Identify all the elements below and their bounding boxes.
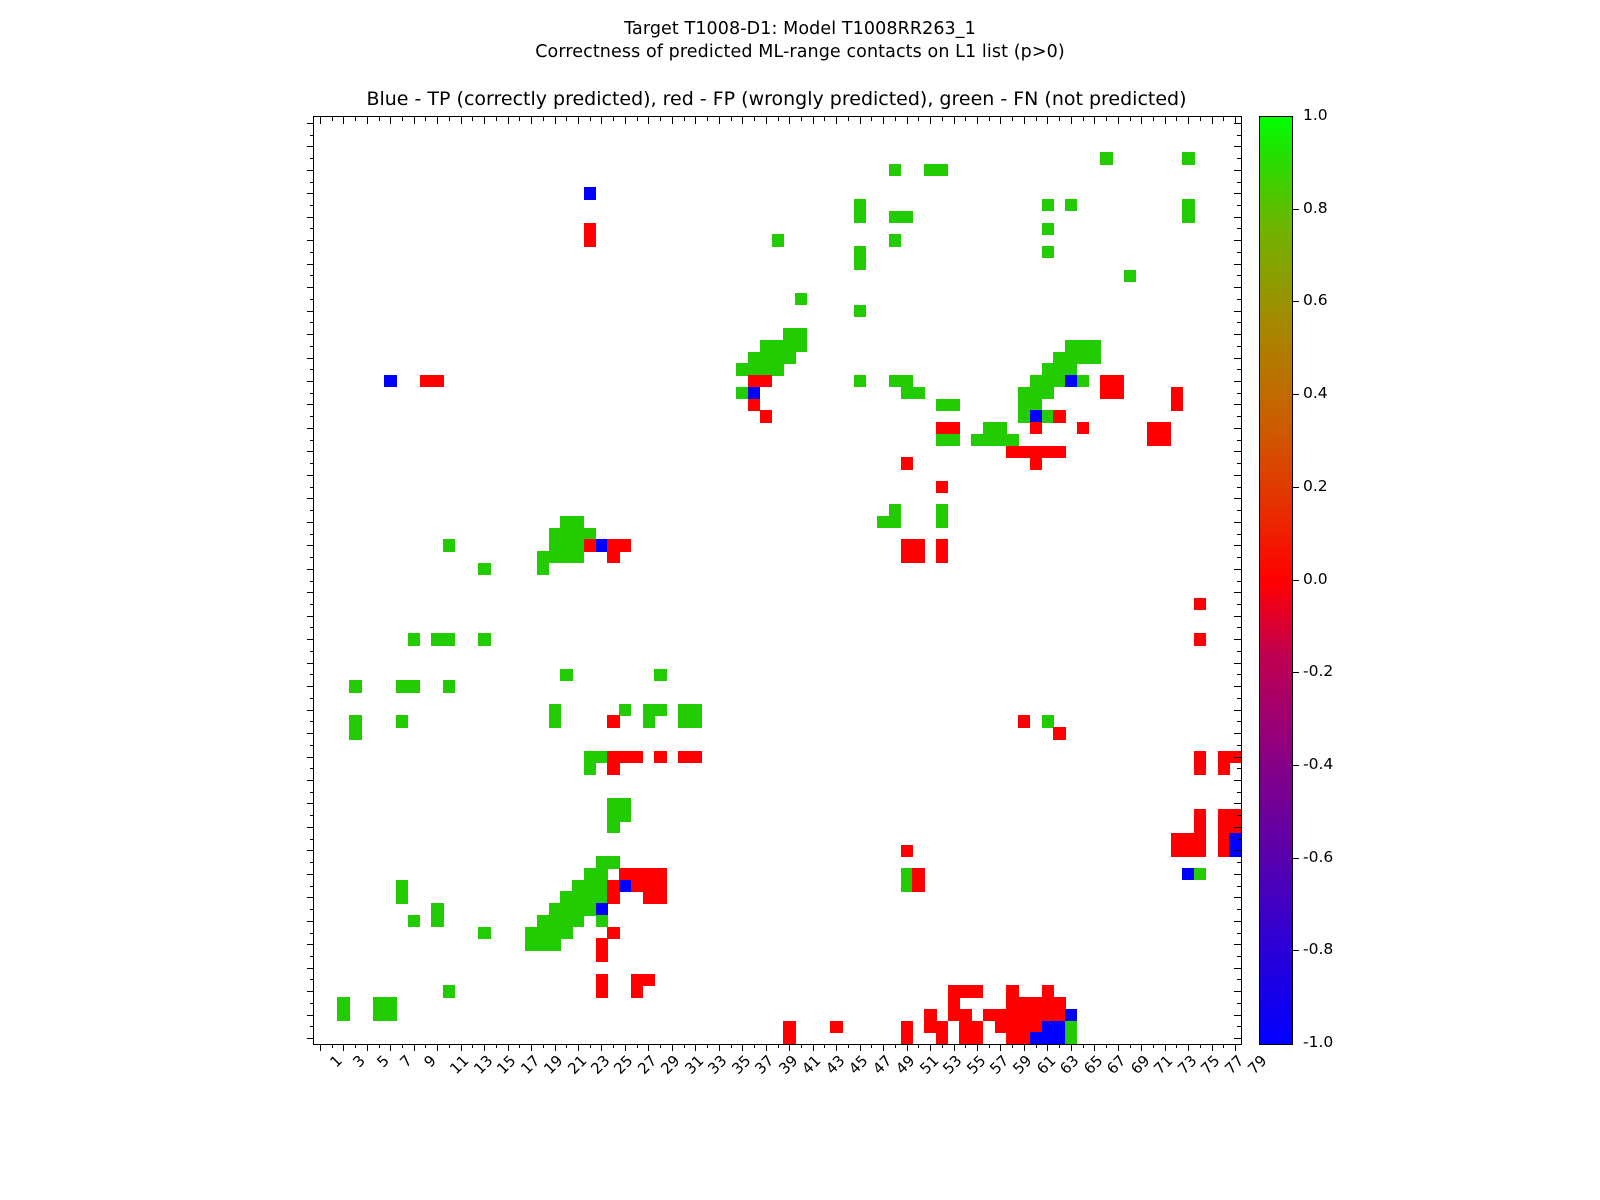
contact-cell xyxy=(572,903,584,915)
colorbar-tick-label: -0.4 xyxy=(1303,757,1333,772)
y-tick-mark xyxy=(307,991,314,992)
x-tick-label: 67 xyxy=(1105,1053,1129,1077)
contact-cell xyxy=(596,974,608,986)
contact-map-plot[interactable] xyxy=(313,116,1242,1045)
contact-cell xyxy=(1218,809,1230,821)
y-tick-mark-inner xyxy=(1234,991,1241,992)
contact-cell xyxy=(1053,727,1065,739)
contact-cell xyxy=(572,915,584,927)
contact-cell xyxy=(783,328,795,340)
contact-cell xyxy=(877,516,889,528)
x-tick-mark xyxy=(414,1044,415,1051)
y-tick-mark xyxy=(310,886,314,887)
colorbar-tick-mark xyxy=(1293,765,1299,766)
contact-cell xyxy=(373,997,385,1009)
contact-cell xyxy=(607,539,619,551)
contact-cell xyxy=(854,258,866,270)
contact-cell xyxy=(607,551,619,563)
contact-cell xyxy=(549,704,561,716)
x-tick-mark xyxy=(1071,1044,1072,1051)
contact-cell xyxy=(901,375,913,387)
contact-cell xyxy=(1030,375,1042,387)
y-tick-mark-inner xyxy=(1234,569,1241,570)
x-tick-mark-inner xyxy=(942,117,943,121)
x-tick-mark xyxy=(637,1044,638,1048)
y-tick-mark xyxy=(307,569,314,570)
y-tick-mark-inner xyxy=(1237,322,1241,323)
contact-cell xyxy=(1018,410,1030,422)
x-tick-mark-inner xyxy=(437,117,438,124)
colorbar-gradient xyxy=(1259,116,1293,1045)
x-tick-mark-inner xyxy=(860,117,861,124)
x-tick-mark xyxy=(836,1044,837,1051)
contact-cell xyxy=(1053,446,1065,458)
contact-cell xyxy=(901,868,913,880)
x-tick-mark-inner xyxy=(531,117,532,124)
contact-cell xyxy=(1042,985,1054,997)
x-tick-mark xyxy=(1036,1044,1037,1048)
contact-cell xyxy=(549,715,561,727)
contact-cell xyxy=(1194,598,1206,610)
y-tick-mark-inner xyxy=(1234,287,1241,288)
x-tick-mark-inner xyxy=(695,117,696,124)
contact-cell xyxy=(760,340,772,352)
y-tick-mark-inner xyxy=(1237,487,1241,488)
contact-cell xyxy=(971,1021,983,1033)
y-tick-mark xyxy=(310,205,314,206)
x-tick-mark-inner xyxy=(601,117,602,124)
contact-cell xyxy=(1006,446,1018,458)
y-tick-mark-inner xyxy=(1234,827,1241,828)
y-tick-mark xyxy=(307,827,314,828)
contact-cell xyxy=(1042,1021,1054,1033)
contact-cell xyxy=(1065,199,1077,211)
y-tick-mark xyxy=(307,264,314,265)
chart-title-line-1: Target T1008-D1: Model T1008RR263_1 xyxy=(0,18,1600,41)
x-tick-mark-inner xyxy=(1047,117,1048,124)
contact-cell xyxy=(936,422,948,434)
contact-cell xyxy=(783,352,795,364)
y-tick-mark xyxy=(307,522,314,523)
x-tick-mark xyxy=(860,1044,861,1051)
contact-cell xyxy=(607,751,619,763)
contact-cell xyxy=(1088,352,1100,364)
y-tick-mark-inner xyxy=(1234,592,1241,593)
contact-cell xyxy=(936,551,948,563)
contact-cell xyxy=(584,223,596,235)
contact-cell xyxy=(889,504,901,516)
y-tick-mark xyxy=(310,369,314,370)
contact-cell xyxy=(619,539,631,551)
y-tick-mark xyxy=(307,663,314,664)
y-tick-mark-inner xyxy=(1237,862,1241,863)
contact-cell xyxy=(537,563,549,575)
contact-cell xyxy=(901,845,913,857)
y-tick-mark xyxy=(310,557,314,558)
contact-cell xyxy=(1042,1009,1054,1021)
contact-cell xyxy=(396,891,408,903)
contact-cell xyxy=(643,704,655,716)
contact-cell xyxy=(1194,821,1206,833)
x-tick-mark-inner xyxy=(367,117,368,124)
x-tick-mark xyxy=(754,1044,755,1048)
y-tick-mark xyxy=(310,534,314,535)
y-tick-mark-inner xyxy=(1234,874,1241,875)
y-tick-mark-inner xyxy=(1234,240,1241,241)
x-tick-label: 57 xyxy=(988,1053,1012,1077)
x-tick-mark xyxy=(930,1044,931,1051)
contact-cell xyxy=(936,164,948,176)
x-tick-mark-inner xyxy=(625,117,626,124)
contact-cell xyxy=(1194,751,1206,763)
contact-cell xyxy=(549,551,561,563)
y-tick-mark-inner xyxy=(1237,557,1241,558)
x-tick-label: 55 xyxy=(964,1053,988,1077)
y-tick-mark xyxy=(307,686,314,687)
contact-cell xyxy=(1030,1009,1042,1021)
contact-cell xyxy=(1077,340,1089,352)
contact-cell xyxy=(631,751,643,763)
contact-cell xyxy=(572,539,584,551)
y-tick-mark xyxy=(310,1026,314,1027)
y-tick-mark-inner xyxy=(1237,721,1241,722)
x-tick-mark-inner xyxy=(590,117,591,121)
contact-cell xyxy=(584,751,596,763)
contact-cell xyxy=(1100,152,1112,164)
contact-cell xyxy=(549,915,561,927)
contact-cell xyxy=(1077,422,1089,434)
x-tick-label: 35 xyxy=(729,1053,753,1077)
y-tick-mark-inner xyxy=(1237,604,1241,605)
y-tick-mark-inner xyxy=(1237,1026,1241,1027)
x-tick-label: 33 xyxy=(706,1053,730,1077)
x-tick-mark xyxy=(578,1044,579,1051)
x-tick-mark xyxy=(918,1044,919,1048)
contact-cell xyxy=(936,481,948,493)
contact-cell xyxy=(549,927,561,939)
x-tick-mark-inner xyxy=(965,117,966,121)
x-tick-mark-inner xyxy=(555,117,556,124)
x-tick-mark-inner xyxy=(1141,117,1142,124)
x-tick-mark-inner xyxy=(472,117,473,121)
y-tick-mark-inner xyxy=(1237,909,1241,910)
x-tick-mark xyxy=(1176,1044,1177,1048)
contact-cell xyxy=(1042,446,1054,458)
x-tick-label: 51 xyxy=(917,1053,941,1077)
x-tick-mark xyxy=(895,1044,896,1048)
contact-cell xyxy=(772,234,784,246)
x-tick-label: 17 xyxy=(518,1053,542,1077)
contact-cell xyxy=(584,528,596,540)
x-tick-mark xyxy=(402,1044,403,1048)
contact-cell xyxy=(560,903,572,915)
y-tick-mark-inner xyxy=(1234,639,1241,640)
x-tick-label: 7 xyxy=(398,1053,415,1070)
contact-cell xyxy=(1030,457,1042,469)
contact-cell xyxy=(936,1032,948,1044)
contact-cell xyxy=(537,938,549,950)
contact-cell xyxy=(1030,997,1042,1009)
y-tick-mark-inner xyxy=(1234,475,1241,476)
x-tick-mark xyxy=(566,1044,567,1048)
y-tick-mark xyxy=(307,592,314,593)
contact-cell xyxy=(889,375,901,387)
x-tick-mark-inner xyxy=(719,117,720,124)
x-tick-mark xyxy=(1165,1044,1166,1051)
contact-cell xyxy=(1077,352,1089,364)
y-tick-mark-inner xyxy=(1237,745,1241,746)
x-tick-mark-inner xyxy=(390,117,391,124)
contact-cell xyxy=(678,704,690,716)
contact-cell xyxy=(619,798,631,810)
contact-cell xyxy=(889,516,901,528)
y-tick-mark xyxy=(310,510,314,511)
y-tick-mark xyxy=(307,146,314,147)
x-tick-mark-inner xyxy=(848,117,849,121)
y-tick-mark-inner xyxy=(1234,545,1241,546)
contact-cell xyxy=(1194,833,1206,845)
contact-cell xyxy=(443,539,455,551)
x-tick-mark xyxy=(519,1044,520,1048)
contact-cell xyxy=(1182,211,1194,223)
contact-cell xyxy=(760,363,772,375)
contact-cell xyxy=(889,234,901,246)
contact-cell xyxy=(431,633,443,645)
contact-cell xyxy=(654,751,666,763)
x-tick-mark-inner xyxy=(883,117,884,124)
x-tick-mark-inner xyxy=(484,117,485,124)
y-tick-mark xyxy=(307,311,314,312)
contact-cell xyxy=(396,715,408,727)
contact-cell xyxy=(748,375,760,387)
y-tick-mark-inner xyxy=(1234,944,1241,945)
contact-cell xyxy=(901,551,913,563)
x-tick-mark xyxy=(425,1044,426,1048)
x-tick-mark-inner xyxy=(1118,117,1119,124)
x-tick-mark xyxy=(484,1044,485,1051)
y-tick-mark-inner xyxy=(1234,780,1241,781)
contact-cell xyxy=(443,680,455,692)
contact-cell xyxy=(1018,399,1030,411)
x-tick-label: 77 xyxy=(1222,1053,1246,1077)
y-tick-mark-inner xyxy=(1234,522,1241,523)
contact-cell xyxy=(584,868,596,880)
contact-cell xyxy=(596,985,608,997)
y-tick-mark xyxy=(310,909,314,910)
x-tick-mark xyxy=(719,1044,720,1051)
x-tick-mark xyxy=(531,1044,532,1051)
x-tick-mark xyxy=(1012,1044,1013,1048)
contact-cell xyxy=(795,328,807,340)
colorbar-tick-mark xyxy=(1293,301,1299,302)
y-tick-mark-inner xyxy=(1234,686,1241,687)
contact-cell xyxy=(948,997,960,1009)
contact-cell xyxy=(584,891,596,903)
contact-cell xyxy=(783,1021,795,1033)
contact-cell xyxy=(572,891,584,903)
contact-cell xyxy=(596,891,608,903)
contact-cell xyxy=(572,528,584,540)
x-tick-mark-inner xyxy=(566,117,567,121)
contact-cell xyxy=(1006,985,1018,997)
contact-cell xyxy=(596,751,608,763)
contact-cell xyxy=(607,856,619,868)
x-tick-mark-inner xyxy=(895,117,896,121)
y-tick-mark xyxy=(310,698,314,699)
contact-cell xyxy=(643,868,655,880)
contact-cell xyxy=(678,751,690,763)
contact-cell xyxy=(619,704,631,716)
y-tick-mark-inner xyxy=(1237,275,1241,276)
x-tick-mark xyxy=(543,1044,544,1048)
x-tick-mark-inner xyxy=(801,117,802,121)
y-tick-mark-inner xyxy=(1234,193,1241,194)
contact-cell xyxy=(596,915,608,927)
contact-cell xyxy=(959,1021,971,1033)
contact-cell xyxy=(854,199,866,211)
y-tick-mark-inner xyxy=(1234,921,1241,922)
y-tick-mark xyxy=(310,768,314,769)
contact-cell xyxy=(1018,387,1030,399)
y-tick-mark xyxy=(310,182,314,183)
contact-cell xyxy=(420,375,432,387)
contact-cell xyxy=(560,669,572,681)
contact-cell xyxy=(1065,375,1077,387)
x-tick-label: 47 xyxy=(870,1053,894,1077)
x-tick-mark xyxy=(1130,1044,1131,1048)
contact-cell xyxy=(936,539,948,551)
y-tick-mark xyxy=(310,135,314,136)
contact-cell xyxy=(1030,1021,1042,1033)
contact-cell xyxy=(830,1021,842,1033)
contact-cell xyxy=(384,1009,396,1021)
contact-cell xyxy=(525,927,537,939)
x-tick-mark xyxy=(707,1044,708,1048)
contact-cell xyxy=(772,352,784,364)
y-tick-mark-inner xyxy=(1234,358,1241,359)
y-tick-mark xyxy=(310,393,314,394)
y-tick-mark xyxy=(310,440,314,441)
contact-cell xyxy=(783,340,795,352)
contact-cell xyxy=(1112,375,1124,387)
x-tick-mark-inner xyxy=(519,117,520,121)
y-tick-mark-inner xyxy=(1234,897,1241,898)
x-tick-mark xyxy=(1235,1044,1236,1051)
x-tick-mark xyxy=(813,1044,814,1051)
x-tick-mark-inner xyxy=(1223,117,1224,121)
contact-cell xyxy=(1042,997,1054,1009)
x-tick-mark-inner xyxy=(425,117,426,121)
x-tick-mark xyxy=(766,1044,767,1051)
y-tick-mark-inner xyxy=(1237,979,1241,980)
x-tick-mark-inner xyxy=(1059,117,1060,121)
contact-cell xyxy=(631,974,643,986)
colorbar-tick-label: 0.8 xyxy=(1303,201,1328,216)
contact-cell xyxy=(337,997,349,1009)
x-tick-mark xyxy=(1223,1044,1224,1048)
contact-cell xyxy=(995,1009,1007,1021)
contact-cell xyxy=(349,715,361,727)
contact-cell xyxy=(1053,363,1065,375)
contact-cell xyxy=(854,305,866,317)
contact-cell xyxy=(748,363,760,375)
contact-cell xyxy=(478,927,490,939)
y-tick-mark xyxy=(310,627,314,628)
contact-cell xyxy=(924,164,936,176)
x-tick-mark-inner xyxy=(508,117,509,124)
y-tick-mark xyxy=(310,322,314,323)
x-tick-label: 73 xyxy=(1175,1053,1199,1077)
contact-cell xyxy=(1171,845,1183,857)
contact-cell xyxy=(1077,375,1089,387)
y-tick-mark-inner xyxy=(1234,170,1241,171)
contact-cell xyxy=(560,539,572,551)
contact-cell xyxy=(549,528,561,540)
y-tick-mark xyxy=(310,252,314,253)
contact-cell xyxy=(1147,434,1159,446)
x-tick-label: 31 xyxy=(682,1053,706,1077)
y-tick-mark xyxy=(310,299,314,300)
y-tick-mark-inner xyxy=(1237,698,1241,699)
contact-cell xyxy=(1088,340,1100,352)
contact-cell xyxy=(959,1032,971,1044)
contact-cell xyxy=(607,927,619,939)
x-tick-mark-inner xyxy=(1012,117,1013,121)
contact-cell xyxy=(549,938,561,950)
contact-cell xyxy=(1112,387,1124,399)
contact-cell xyxy=(1006,1032,1018,1044)
x-tick-label: 71 xyxy=(1152,1053,1176,1077)
contact-cell xyxy=(936,399,948,411)
contact-cell xyxy=(373,1009,385,1021)
x-tick-mark xyxy=(320,1044,321,1051)
y-tick-mark xyxy=(307,710,314,711)
contact-cell xyxy=(1030,399,1042,411)
contact-cell xyxy=(596,539,608,551)
contact-cell xyxy=(349,680,361,692)
y-tick-mark-inner xyxy=(1237,534,1241,535)
x-tick-mark-inner xyxy=(496,117,497,121)
contact-cell xyxy=(607,891,619,903)
x-tick-mark-inner xyxy=(355,117,356,121)
contact-cell xyxy=(1053,375,1065,387)
contact-cell xyxy=(619,880,631,892)
contact-cell xyxy=(1053,1009,1065,1021)
contact-cell xyxy=(560,915,572,927)
contact-cell xyxy=(936,1021,948,1033)
x-tick-mark xyxy=(824,1044,825,1048)
x-tick-mark-inner xyxy=(1153,117,1154,121)
x-tick-mark-inner xyxy=(332,117,333,121)
y-tick-mark xyxy=(307,850,314,851)
contact-cell xyxy=(408,680,420,692)
x-tick-mark-inner xyxy=(954,117,955,124)
contact-cell xyxy=(760,410,772,422)
contact-cell xyxy=(1018,715,1030,727)
contact-cell xyxy=(795,340,807,352)
x-tick-mark-inner xyxy=(461,117,462,124)
y-tick-mark-inner xyxy=(1237,792,1241,793)
contact-cell xyxy=(901,211,913,223)
x-tick-mark-inner xyxy=(918,117,919,121)
y-tick-mark-inner xyxy=(1237,768,1241,769)
contact-cell xyxy=(560,891,572,903)
x-tick-mark-inner xyxy=(320,117,321,124)
y-tick-mark-inner xyxy=(1237,135,1241,136)
contact-cell xyxy=(689,715,701,727)
contact-cell xyxy=(1042,387,1054,399)
x-tick-mark-inner xyxy=(1188,117,1189,124)
